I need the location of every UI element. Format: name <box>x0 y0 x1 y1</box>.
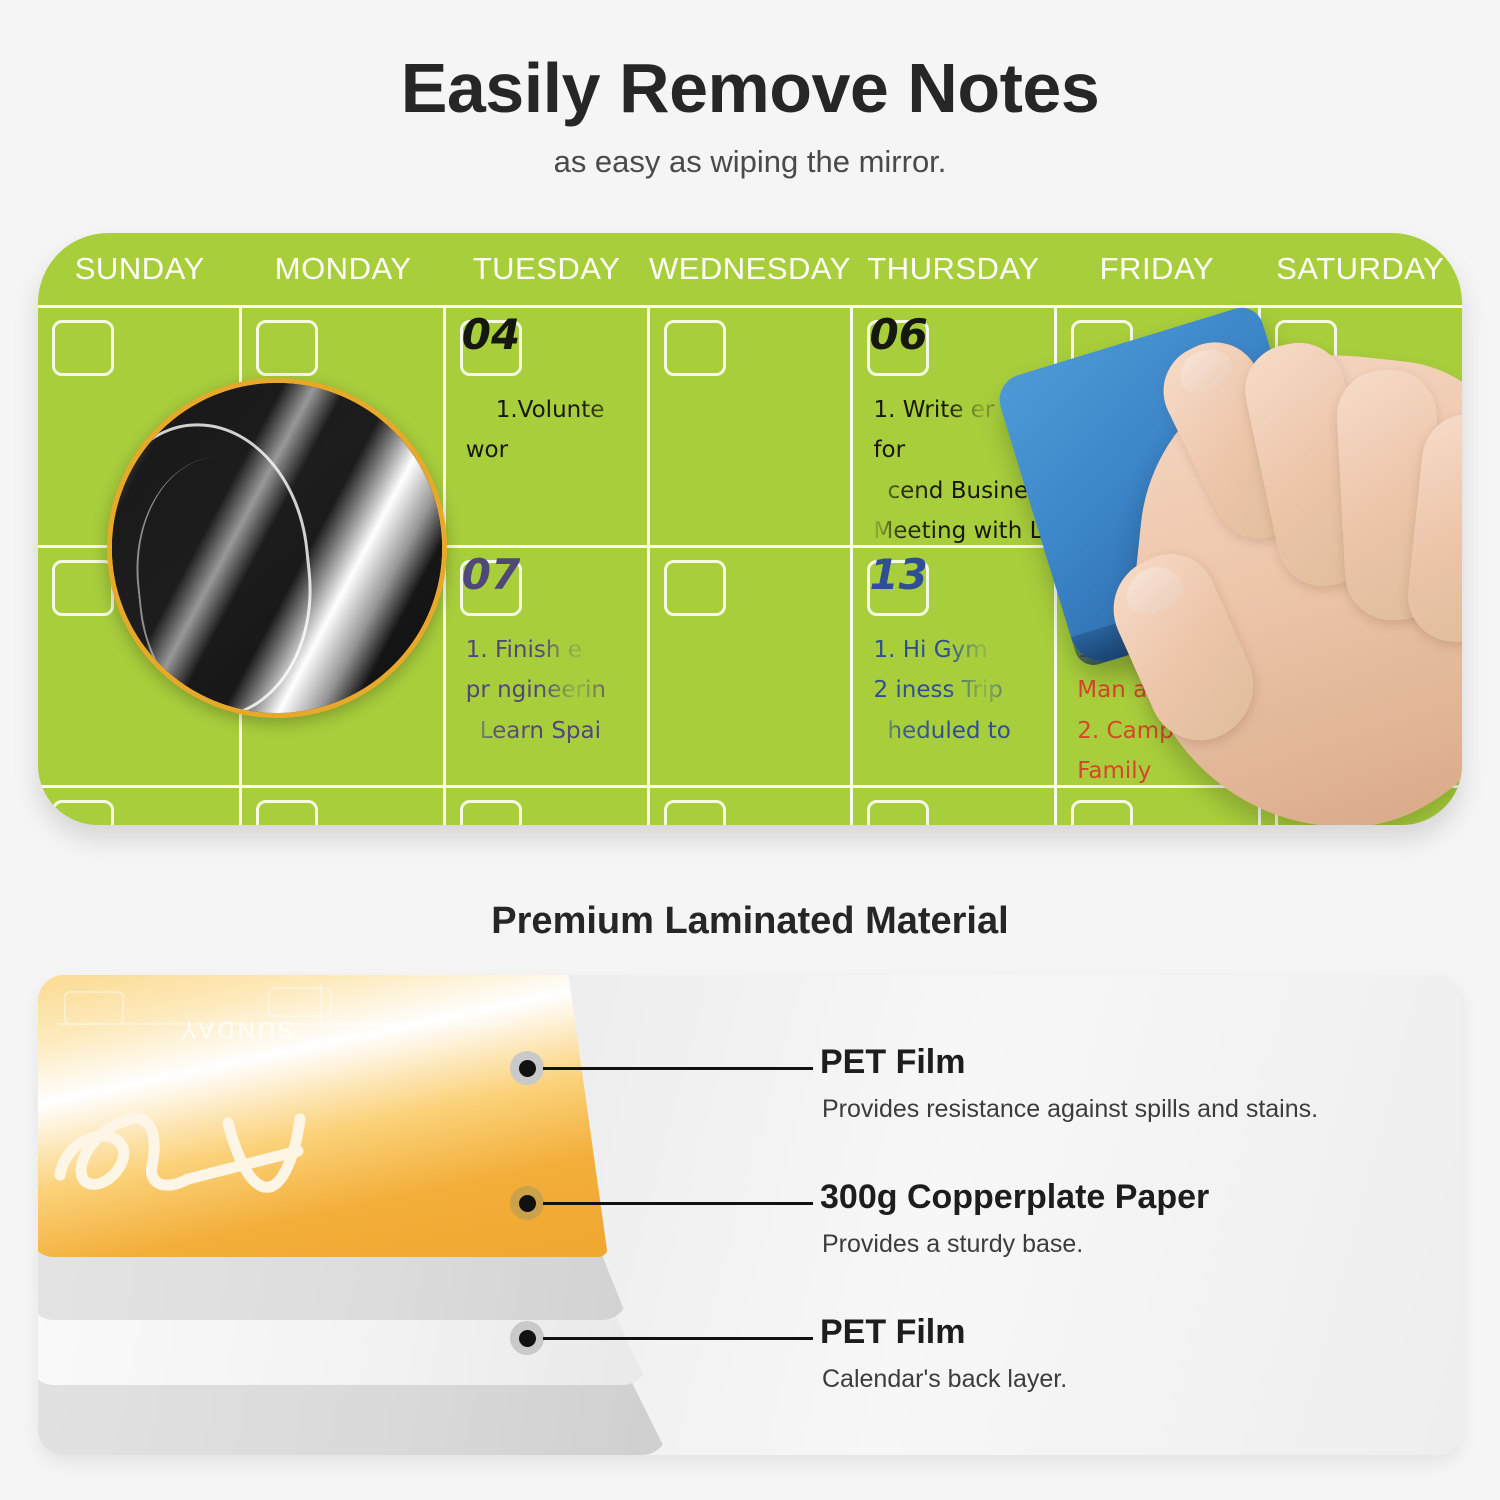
date-number: 07 <box>462 554 520 596</box>
film-closeup-inset <box>107 378 447 718</box>
date-box <box>256 800 318 825</box>
callout-desc: Provides resistance against spills and s… <box>822 1095 1318 1124</box>
note-line: pr ngineerin <box>466 670 643 710</box>
day-cell[interactable] <box>38 788 242 825</box>
date-box <box>867 800 929 825</box>
day-cell[interactable] <box>446 788 650 825</box>
weekday-thursday: THURSDAY <box>852 233 1055 305</box>
date-number: 04 <box>462 314 520 356</box>
handwriting-script-icon <box>48 1079 408 1219</box>
callout-title: 300g Copperplate Paper <box>820 1178 1209 1217</box>
callout-leader-line <box>543 1202 813 1205</box>
date-box <box>664 320 726 376</box>
note-line: 1. Finish e <box>466 630 643 670</box>
callout-dot-icon[interactable] <box>510 1051 544 1085</box>
weekday-wednesday: WEDNESDAY <box>648 233 851 305</box>
day-cell[interactable] <box>650 788 854 825</box>
material-panel: SUNDAY PET Film Provides resistance agai… <box>38 975 1462 1455</box>
page-header: Easily Remove Notes as easy as wiping th… <box>0 0 1500 215</box>
weekday-tuesday: TUESDAY <box>445 233 648 305</box>
ghost-weekday-label: SUNDAY <box>178 1015 294 1043</box>
weekday-sunday: SUNDAY <box>38 233 241 305</box>
day-cell-04[interactable]: 04 1.Volunte wor <box>446 308 650 548</box>
page-title: Easily Remove Notes <box>0 0 1500 126</box>
date-box <box>52 320 114 376</box>
callout-dot-icon[interactable] <box>510 1321 544 1355</box>
date-box <box>256 320 318 376</box>
date-box <box>52 800 114 825</box>
day-notes: 1. Finish e pr ngineerin Learn Spai <box>466 630 643 751</box>
callout-desc: Calendar's back layer. <box>822 1365 1067 1394</box>
day-cell[interactable] <box>650 308 854 548</box>
note-line: Learn Spai <box>466 711 643 751</box>
date-number: 06 <box>869 314 927 356</box>
callout-dot-icon[interactable] <box>510 1186 544 1220</box>
material-section-title: Premium Laminated Material <box>0 900 1500 943</box>
day-notes: 1.Volunte wor <box>466 390 643 471</box>
calendar-card: SUNDAY MONDAY TUESDAY WEDNESDAY THURSDAY… <box>38 233 1462 825</box>
hand-with-eraser <box>1023 328 1462 825</box>
callout-leader-line <box>543 1067 813 1070</box>
date-box <box>460 800 522 825</box>
date-box <box>52 560 114 616</box>
page-subtitle: as easy as wiping the mirror. <box>0 126 1500 180</box>
callout-title: PET Film <box>820 1043 965 1082</box>
callout-leader-line <box>543 1337 813 1340</box>
callout-desc: Provides a sturdy base. <box>822 1230 1083 1259</box>
day-cell[interactable] <box>650 548 854 788</box>
day-cell[interactable] <box>242 788 446 825</box>
note-line: wor <box>466 430 643 470</box>
day-cell-07[interactable]: 07 1. Finish e pr ngineerin Learn Spai <box>446 548 650 788</box>
calendar-demo-panel: SUNDAY MONDAY TUESDAY WEDNESDAY THURSDAY… <box>0 215 1500 865</box>
callout-title: PET Film <box>820 1313 965 1352</box>
weekday-friday: FRIDAY <box>1055 233 1258 305</box>
date-box <box>664 560 726 616</box>
date-box <box>664 800 726 825</box>
date-number: 13 <box>869 554 927 596</box>
weekday-monday: MONDAY <box>241 233 444 305</box>
note-line: 1.Volunte <box>466 390 643 430</box>
weekday-header-row: SUNDAY MONDAY TUESDAY WEDNESDAY THURSDAY… <box>38 233 1462 305</box>
weekday-saturday: SATURDAY <box>1259 233 1462 305</box>
